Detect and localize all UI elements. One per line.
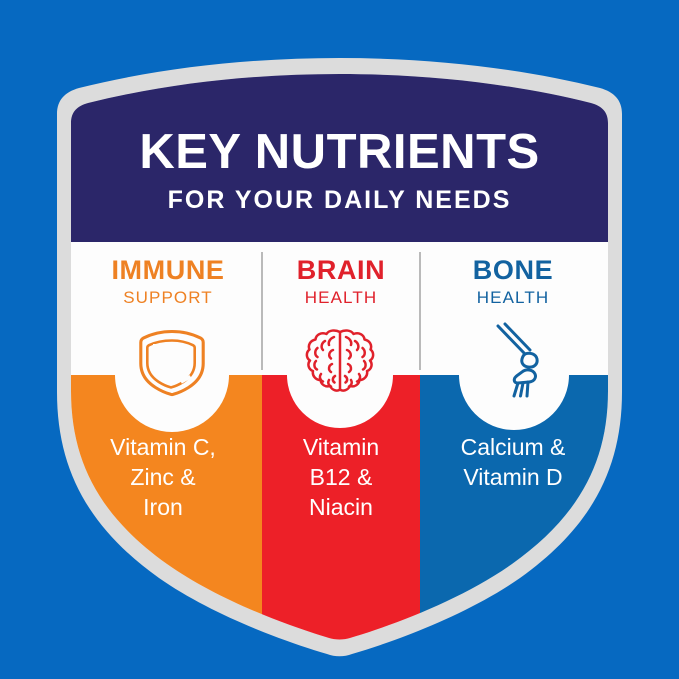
column-caption-bone: Calcium & Vitamin D	[422, 432, 604, 492]
caption-line: Calcium &	[422, 432, 604, 462]
column-heading-secondary-immune: SUPPORT	[74, 288, 262, 308]
column-heading-primary-bone: BONE	[420, 256, 606, 285]
badge-header: KEY NUTRIENTS FOR YOUR DAILY NEEDS	[0, 126, 679, 214]
caption-line: Vitamin D	[422, 462, 604, 492]
caption-line: Vitamin	[264, 432, 418, 462]
column-caption-immune: Vitamin C, Zinc & Iron	[68, 432, 258, 522]
page-subtitle: FOR YOUR DAILY NEEDS	[0, 187, 679, 214]
column-heading-secondary-brain: HEALTH	[262, 288, 420, 308]
caption-line: B12 &	[264, 462, 418, 492]
column-heading-immune: IMMUNE SUPPORT	[74, 256, 262, 308]
caption-line: Zinc &	[68, 462, 258, 492]
caption-line: Niacin	[264, 492, 418, 522]
knee-joint-bone-icon	[478, 322, 552, 398]
shield-icon	[136, 326, 208, 398]
column-heading-primary-brain: BRAIN	[262, 256, 420, 285]
page-title: KEY NUTRIENTS	[0, 126, 679, 178]
caption-line: Iron	[68, 492, 258, 522]
column-heading-secondary-bone: HEALTH	[420, 288, 606, 308]
column-heading-brain: BRAIN HEALTH	[262, 256, 420, 308]
column-caption-brain: Vitamin B12 & Niacin	[264, 432, 418, 522]
caption-line: Vitamin C,	[68, 432, 258, 462]
brain-icon	[305, 328, 375, 396]
key-nutrients-badge: KEY NUTRIENTS FOR YOUR DAILY NEEDS IMMUN…	[0, 0, 679, 679]
column-heading-bone: BONE HEALTH	[420, 256, 606, 308]
column-heading-primary-immune: IMMUNE	[74, 256, 262, 285]
